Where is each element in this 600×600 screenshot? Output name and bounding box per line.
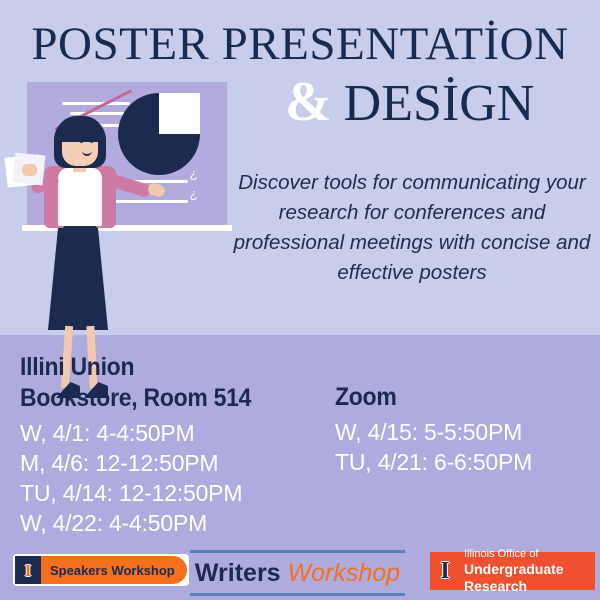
schedule-session: TU, 4/14: 12-12:50PM	[20, 478, 330, 508]
illinois-i-glyph: I	[25, 562, 32, 579]
ugr-line-1: Illinois Office of	[464, 547, 595, 561]
figure-hand-left	[22, 164, 37, 176]
schedule-session: M, 4/6: 12-12:50PM	[20, 448, 330, 478]
question-mark-icon: ?	[190, 168, 197, 183]
schedule-session-list: W, 4/15: 5-5:50PM TU, 4/21: 6-6:50PM	[335, 417, 590, 477]
schedule-session: W, 4/22: 4-4:50PM	[20, 508, 330, 538]
writers-workshop-label: Writers Workshop	[190, 558, 405, 588]
writers-rule-bottom	[190, 593, 405, 596]
writers-rule-top	[190, 550, 405, 553]
figure-eye	[80, 140, 83, 143]
schedule-heading-line-1: Zoom	[335, 382, 570, 413]
presenter-illustration: ? ?	[0, 60, 240, 360]
schedule-heading-line-1: Illini Union	[20, 352, 305, 383]
schedule-session: W, 4/15: 5-5:50PM	[335, 417, 590, 447]
undergraduate-research-label: Illinois Office of Undergraduate Researc…	[460, 547, 595, 595]
ugr-line-2: Undergraduate Research	[464, 561, 595, 595]
schedule-heading-line-2: Bookstore, Room 514	[20, 383, 305, 414]
subtitle-description: Discover tools for communicating your re…	[228, 168, 596, 288]
writers-word: Writers	[195, 559, 281, 587]
board-text-line	[62, 102, 130, 105]
illinois-i-glyph: I	[440, 559, 449, 583]
illinois-block-i-icon: I	[15, 556, 41, 584]
footer-logo-bar: I Speakers Workshop Writers Workshop I I…	[0, 548, 600, 600]
page-title-line-2: &DESİGN	[285, 72, 600, 134]
figure-torso	[58, 168, 102, 226]
pie-chart-icon	[118, 93, 200, 175]
question-mark-icon: ?	[190, 188, 197, 203]
poster-canvas: POSTER PRESENTATİON &DESİGN Discover too…	[0, 0, 600, 600]
illinois-block-i-icon: I	[430, 552, 460, 590]
figure-hair-front	[56, 116, 104, 142]
logo-writers-workshop[interactable]: Writers Workshop	[190, 550, 405, 596]
schedule-column-zoom: Zoom W, 4/15: 5-5:50PM TU, 4/21: 6-6:50P…	[335, 382, 590, 477]
schedule-session: TU, 4/21: 6-6:50PM	[335, 447, 590, 477]
schedule-column-illini-union: Illini Union Bookstore, Room 514 W, 4/1:…	[20, 352, 330, 538]
pie-slice-white	[159, 93, 200, 134]
figure-skirt	[48, 220, 108, 330]
ampersand-glyph: &	[285, 71, 332, 133]
workshop-word: Workshop	[288, 559, 401, 587]
schedule-session-list: W, 4/1: 4-4:50PM M, 4/6: 12-12:50PM TU, …	[20, 418, 330, 538]
schedule-session: W, 4/1: 4-4:50PM	[20, 418, 330, 448]
logo-speakers-workshop[interactable]: I Speakers Workshop	[13, 554, 189, 586]
schedule-section: Illini Union Bookstore, Room 514 W, 4/1:…	[0, 352, 600, 537]
figure-eye	[90, 140, 93, 143]
speakers-workshop-label: Speakers Workshop	[41, 563, 187, 578]
logo-undergraduate-research[interactable]: I Illinois Office of Undergraduate Resea…	[430, 552, 595, 590]
page-title-design-word: DESİGN	[344, 75, 535, 132]
speakers-workshop-pill: I Speakers Workshop	[15, 556, 187, 584]
